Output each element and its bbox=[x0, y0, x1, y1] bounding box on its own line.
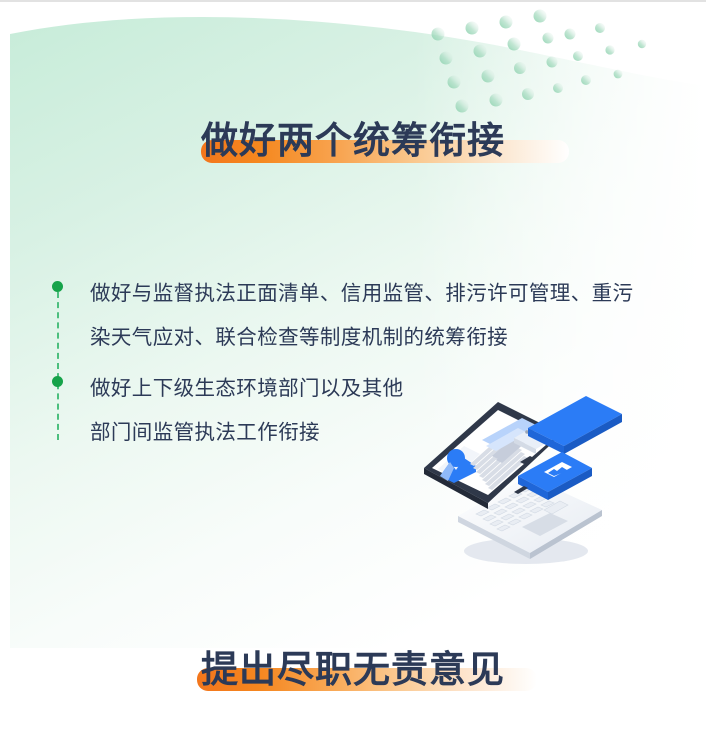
list-item-label: 做好上下级生态环境部门以及其他部门间监管执法工作衔接 bbox=[90, 367, 420, 455]
section-title-top: 做好两个统筹衔接 bbox=[0, 122, 706, 159]
green-dot-bullet-icon bbox=[52, 376, 63, 387]
list-item: 做好与监督执法正面清单、信用监管、排污许可管理、重污染天气应对、联合检查等制度机… bbox=[52, 272, 652, 360]
green-dot-bullet-icon bbox=[52, 281, 63, 292]
isometric-laptop-illustration bbox=[410, 388, 630, 578]
section-title-bottom: 提出尽职无责意见 bbox=[0, 651, 706, 688]
top-divider-rule bbox=[0, 0, 706, 2]
page-title-top: 做好两个统筹衔接 bbox=[201, 120, 505, 161]
list-item-label: 做好与监督执法正面清单、信用监管、排污许可管理、重污染天气应对、联合检查等制度机… bbox=[90, 272, 652, 360]
page-title-bottom: 提出尽职无责意见 bbox=[201, 649, 505, 690]
poster-canvas: 做好两个统筹衔接 做好与监督执法正面清单、信用监管、排污许可管理、重污染天气应对… bbox=[0, 0, 706, 746]
